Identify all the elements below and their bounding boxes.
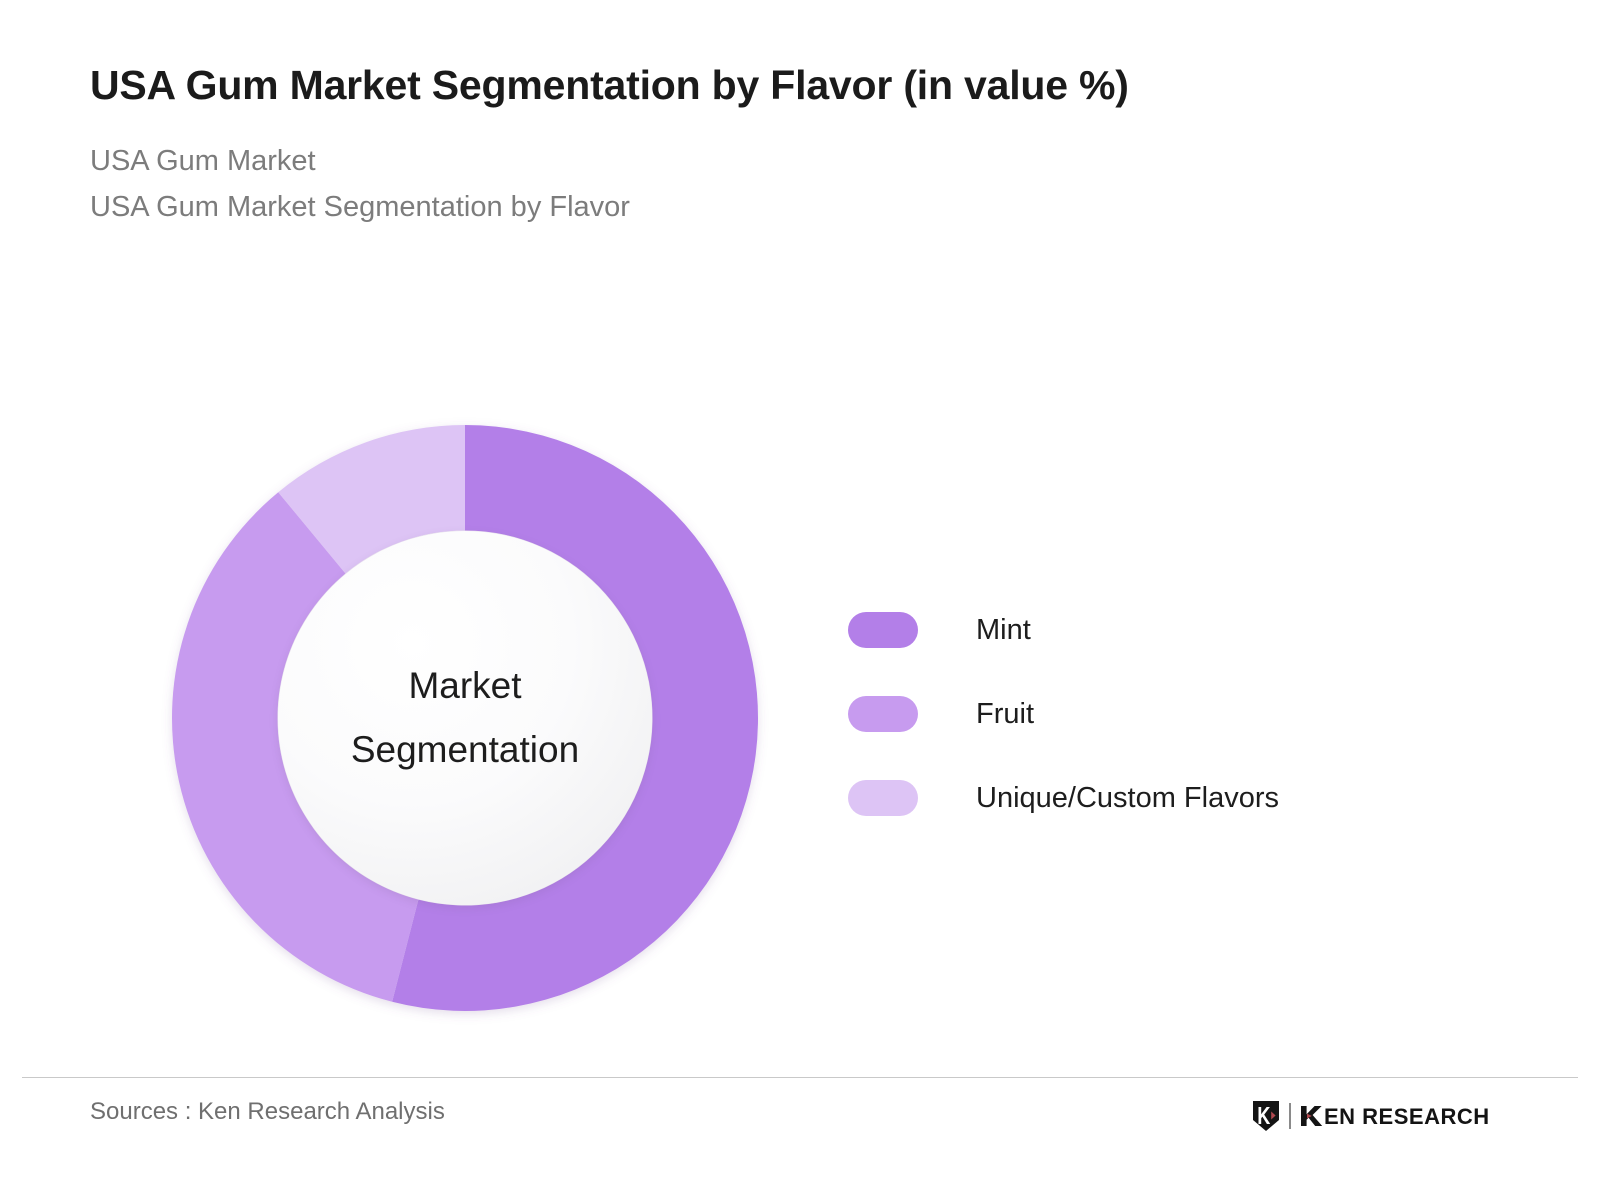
pill-swatch-icon: [848, 780, 918, 816]
donut-chart: Market Segmentation: [172, 425, 758, 1011]
legend-item-label: Mint: [976, 614, 1031, 647]
ken-research-logo[interactable]: EN RESEARCH: [1251, 1099, 1510, 1133]
logo-divider: [1289, 1103, 1291, 1129]
legend-item-unique-custom-flavors[interactable]: Unique/Custom Flavors: [848, 756, 1279, 840]
chart-legend: Mint Fruit Unique/Custom Flavors: [848, 588, 1279, 840]
donut-center-line-2: Segmentation: [351, 718, 579, 782]
footer-divider: [22, 1077, 1578, 1078]
legend-item-mint[interactable]: Mint: [848, 588, 1279, 672]
pill-swatch-icon: [848, 696, 918, 732]
slide-canvas: USA Gum Market Segmentation by Flavor (i…: [0, 0, 1600, 1200]
legend-item-label: Fruit: [976, 698, 1034, 731]
chart-area: Market Segmentation Mint Fruit Unique/Cu…: [0, 0, 1600, 1060]
ken-research-shield-icon: [1251, 1100, 1281, 1132]
source-note: Sources : Ken Research Analysis: [90, 1098, 445, 1126]
legend-item-label: Unique/Custom Flavors: [976, 782, 1279, 815]
svg-text:EN RESEARCH: EN RESEARCH: [1324, 1104, 1490, 1129]
legend-item-fruit[interactable]: Fruit: [848, 672, 1279, 756]
logo-wordmark: EN RESEARCH: [1298, 1103, 1510, 1129]
pill-swatch-icon: [848, 612, 918, 648]
donut-center-label: Market Segmentation: [278, 531, 652, 905]
donut-center-line-1: Market: [408, 654, 521, 718]
